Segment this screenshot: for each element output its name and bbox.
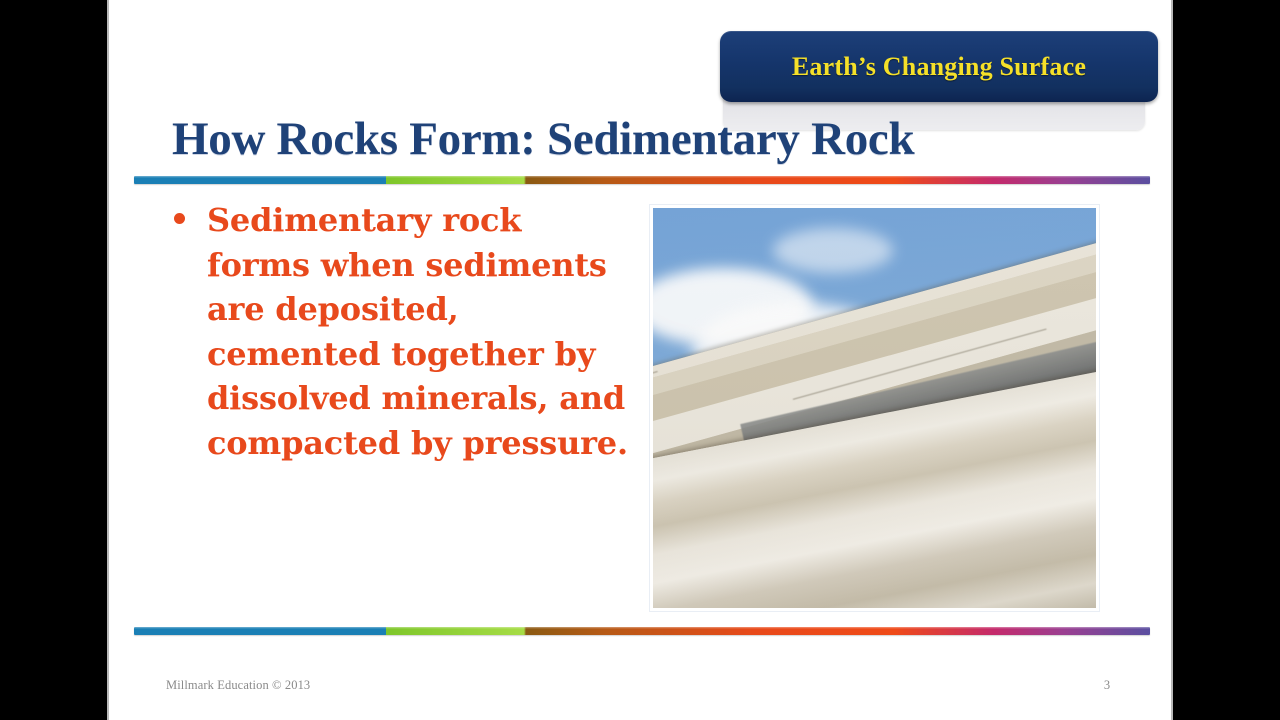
presentation-slide: Earth’s Changing Surface How Rocks Form:…: [107, 0, 1173, 720]
divider-rule-top: [134, 176, 1150, 184]
unit-title-text: Earth’s Changing Surface: [792, 52, 1086, 82]
slide-body: Sedimentary rock forms when sediments ar…: [164, 198, 634, 465]
layered-sedimentary-rock-photo: [653, 208, 1096, 608]
bullet-text: Sedimentary rock forms when sediments ar…: [207, 198, 634, 465]
unit-title-banner: Earth’s Changing Surface: [720, 31, 1158, 102]
footer-credit: Millmark Education © 2013: [166, 678, 310, 693]
divider-rule-bottom: [134, 627, 1150, 635]
slide-title: How Rocks Form: Sedimentary Rock: [172, 112, 1162, 166]
video-viewport: Earth’s Changing Surface How Rocks Form:…: [0, 0, 1280, 720]
slide-page-number: 3: [1097, 678, 1117, 693]
bullet-dot-icon: [174, 213, 185, 224]
bullet-list-item: Sedimentary rock forms when sediments ar…: [164, 198, 634, 465]
slide-image-frame: [650, 205, 1099, 611]
